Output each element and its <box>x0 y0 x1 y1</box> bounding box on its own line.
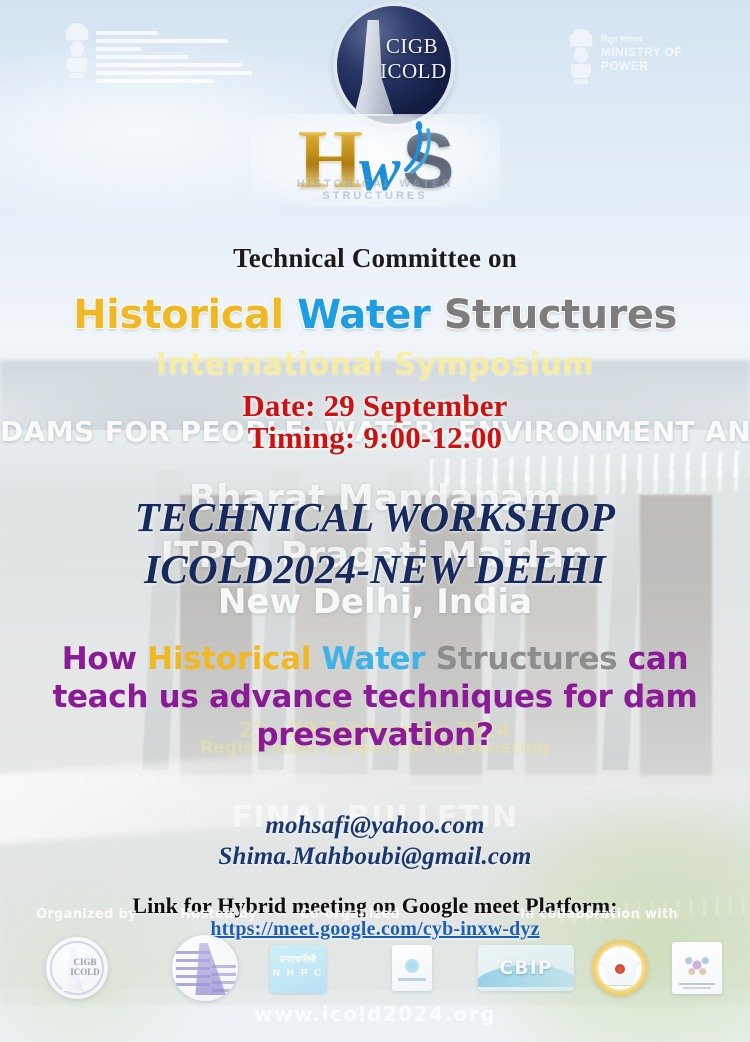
hws-wordmark: H w S HISTORICAL WATER STRUCTURES <box>250 114 500 206</box>
ministry-hindi-label: विद्युत मंत्रालय <box>601 34 682 45</box>
contact-email-1[interactable]: mohsafi@yahoo.com <box>0 812 750 840</box>
workshop-title-line-1: TECHNICAL WORKSHOP <box>0 493 750 541</box>
ashoka-emblem-icon <box>570 34 592 86</box>
committee-label: Technical Committee on <box>0 243 750 274</box>
sponsor-logo-host[interactable] <box>172 935 238 1001</box>
title-word-structures: Structures <box>444 292 677 338</box>
icold-logo-line-1: CIGB <box>380 34 444 59</box>
ministry-line-1: MINISTRY OF <box>601 45 682 59</box>
question-part-1: How <box>62 641 147 677</box>
question-word-historical: Historical <box>147 641 311 677</box>
sponsor-cbip-label: CBIP <box>478 957 574 979</box>
question-space-1 <box>311 641 322 677</box>
contact-email-2[interactable]: Shima.Mahboubi@gmail.com <box>0 843 750 871</box>
workshop-question: How Historical Water Structures can teac… <box>38 640 712 754</box>
event-timing: Timing: 9:00-12.00 <box>0 420 750 456</box>
sponsor-logo-partner-c[interactable] <box>672 942 722 994</box>
sponsor-logo-icold[interactable]: CIGB ICOLD <box>46 937 108 999</box>
event-date: Date: 29 September <box>0 388 750 424</box>
icold-logo-line-2: ICOLD <box>380 59 444 84</box>
label-co-organized: Co-organized <box>300 907 400 922</box>
poster-canvas: International Symposium DAMS FOR PEOPLE,… <box>0 0 750 1042</box>
gov-text-lines <box>96 31 252 87</box>
ministry-line-2: POWER <box>601 59 682 73</box>
sponsor-nhpc-hindi: एनएचपीसी <box>270 952 326 965</box>
water-splash-icon <box>398 120 438 178</box>
icold-roundel-icon: CIGB ICOLD <box>337 6 451 124</box>
label-organized-by: Organized by <box>36 907 137 922</box>
title-word-water: Water <box>297 292 430 338</box>
question-space-2 <box>425 641 436 677</box>
label-hosted-by: Hosted by <box>180 907 257 922</box>
question-word-structures: Structures <box>436 641 618 677</box>
sponsor-logo-partner-a[interactable] <box>392 945 432 991</box>
sponsor-logo-cbip[interactable]: CBIP <box>478 945 574 991</box>
ministry-of-power-emblem: विद्युत मंत्रालय MINISTRY OF POWER <box>570 34 682 86</box>
government-of-india-emblem <box>66 28 266 94</box>
title-word-historical: Historical <box>73 292 283 338</box>
page-title: Historical Water Structures <box>0 292 750 338</box>
workshop-title-line-2: ICOLD2024-NEW DELHI <box>0 545 750 593</box>
sponsor-nhpc-label: N H P C <box>270 968 326 979</box>
question-word-water: Water <box>322 641 426 677</box>
hws-subtitle: HISTORICAL WATER STRUCTURES <box>250 178 500 202</box>
ashoka-emblem-icon <box>66 28 88 80</box>
sponsor-logo-nhpc[interactable]: एनएचपीसी N H P C <box>270 945 326 993</box>
sponsor-icold-label: CIGB ICOLD <box>68 957 102 977</box>
sponsor-logo-partner-b[interactable] <box>592 940 648 996</box>
label-collaboration: In collaboration with <box>520 907 678 922</box>
sponsor-strip: Organized by Hosted by Co-organized In c… <box>0 925 750 1000</box>
